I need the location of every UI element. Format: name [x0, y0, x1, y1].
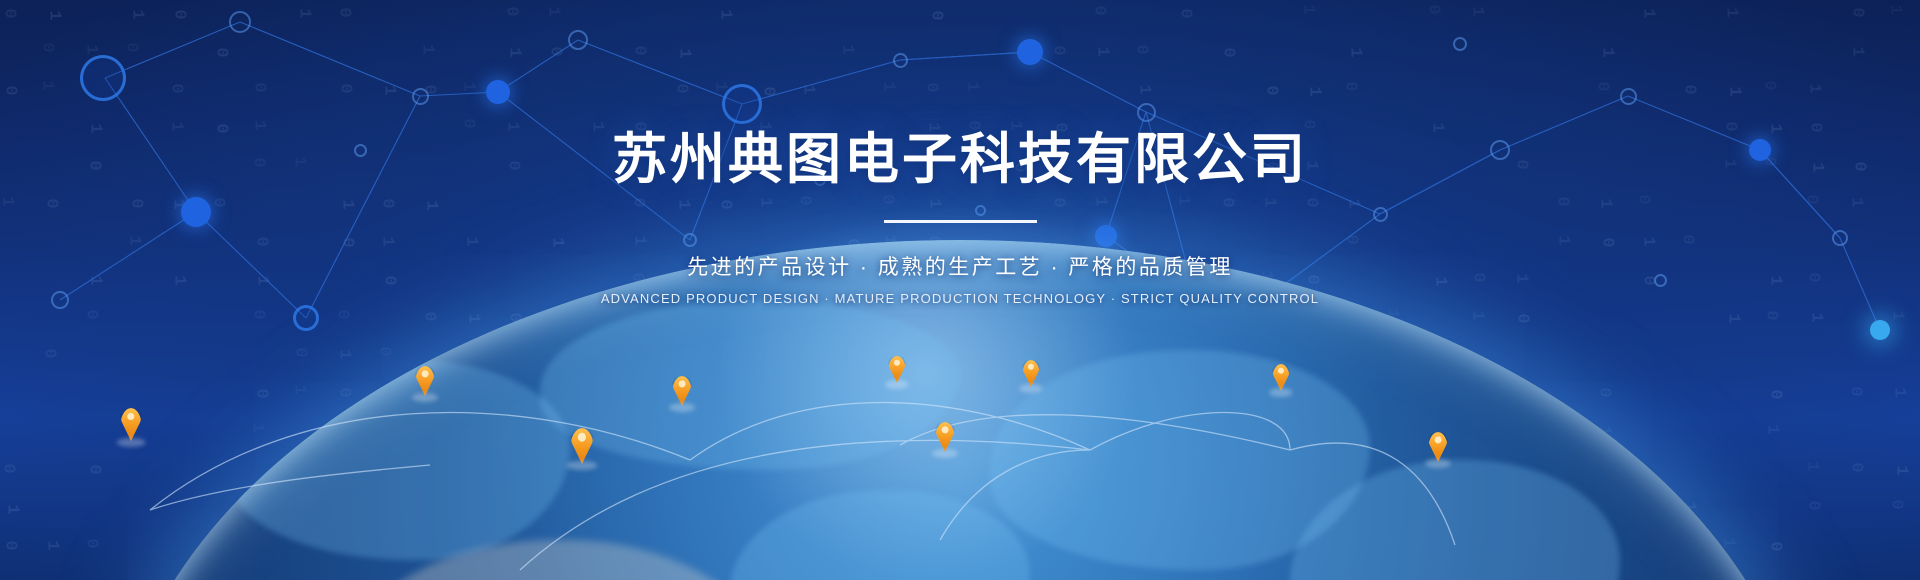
binary-digit: 0	[1342, 387, 1361, 397]
binary-digit: 0	[40, 348, 59, 358]
map-pin-icon	[120, 408, 142, 441]
binary-digit: 1	[1510, 500, 1529, 510]
binary-digit: 1	[293, 539, 312, 549]
page-title: 苏州典图电子科技有限公司	[0, 129, 1920, 190]
binary-digit: 0	[1425, 462, 1444, 472]
binary-digit: 0	[1766, 390, 1785, 400]
company-hero-banner: 0010101010011101000100100111000101001001…	[0, 0, 1920, 580]
binary-digit: 1	[1594, 425, 1613, 435]
network-node	[1870, 320, 1890, 340]
binary-digit: 0	[1052, 352, 1071, 362]
binary-digit: 1	[1382, 309, 1401, 319]
binary-digit: 1	[1088, 423, 1107, 433]
binary-digit: 1	[1215, 462, 1234, 472]
binary-digit: 1	[1802, 461, 1821, 471]
binary-digit: 1	[503, 426, 522, 436]
binary-digit: 1	[963, 462, 982, 472]
binary-digit: 0	[800, 428, 819, 438]
binary-digit: 0	[922, 310, 941, 320]
binary-digit: 0	[1088, 385, 1107, 395]
binary-digit: 1	[710, 461, 729, 471]
binary-digit: 0	[1427, 540, 1446, 550]
binary-digit: 0	[1594, 462, 1613, 472]
binary-digit: 0	[334, 387, 353, 397]
binary-digit: 1	[1679, 502, 1698, 512]
map-pin-icon	[570, 428, 594, 464]
binary-digit: 0	[1261, 389, 1280, 399]
binary-digit: 0	[881, 425, 900, 435]
network-node	[1152, 322, 1168, 338]
binary-digit: 1	[418, 425, 437, 435]
binary-digit: 1	[797, 387, 816, 397]
binary-digit: 1	[1429, 352, 1448, 362]
binary-digit: 0	[504, 313, 523, 323]
binary-digit: 1	[251, 502, 270, 512]
binary-digit: 0	[81, 310, 100, 320]
subtitle-chinese: 先进的产品设计 · 成熟的生产工艺 · 严格的品质管理	[0, 251, 1920, 281]
map-pin-icon	[1428, 432, 1448, 462]
binary-digit: 0	[1046, 423, 1065, 433]
binary-digit: 1	[210, 540, 229, 550]
binary-digit: 0	[1049, 501, 1068, 511]
binary-digit: 0	[1133, 502, 1152, 512]
map-pin-icon	[935, 422, 955, 452]
binary-digit: 1	[758, 428, 777, 438]
binary-digit: 1	[671, 349, 690, 359]
binary-digit: 0	[419, 312, 438, 322]
binary-digit: 1	[921, 424, 940, 434]
hero-text-block: 苏州典图电子科技有限公司 先进的产品设计 · 成熟的生产工艺 · 严格的品质管理…	[0, 0, 1920, 306]
binary-digit: 0	[920, 461, 939, 471]
binary-digit: 0	[332, 309, 351, 319]
binary-digit: 0	[840, 541, 859, 551]
binary-digit: 0	[629, 349, 648, 359]
binary-digit: 0	[249, 309, 268, 319]
binary-digit: 1	[1723, 313, 1742, 323]
binary-digit: 1	[380, 542, 399, 552]
binary-digit: 1	[43, 541, 62, 551]
binary-digit: 0	[380, 428, 399, 438]
binary-digit: 0	[374, 347, 393, 357]
binary-digit: 1	[673, 503, 692, 513]
binary-digit: 1	[291, 462, 310, 472]
binary-digit: 0	[459, 348, 478, 358]
binary-digit: 1	[1597, 503, 1616, 513]
binary-digit: 1	[1471, 541, 1490, 551]
binary-digit: 0	[1508, 537, 1527, 547]
binary-digit: 1	[968, 314, 987, 324]
binary-digit: 1	[589, 503, 608, 513]
map-pin-icon	[415, 366, 435, 396]
binary-digit: 0	[1762, 310, 1781, 320]
network-node	[293, 305, 319, 331]
binary-digit: 0	[84, 465, 103, 475]
binary-digit: 0	[1134, 350, 1153, 360]
binary-digit: 1	[290, 385, 309, 395]
binary-digit: 0	[1007, 387, 1026, 397]
binary-digit: 0	[250, 538, 269, 548]
binary-digit: 0	[1215, 424, 1234, 434]
binary-digit: 1	[335, 349, 354, 359]
binary-digit: 0	[459, 424, 478, 434]
binary-digit: 1	[543, 310, 562, 320]
binary-digit: 0	[82, 538, 101, 548]
binary-digit: 1	[963, 385, 982, 395]
binary-digit: 0	[0, 541, 19, 551]
binary-digit: 1	[1006, 348, 1025, 358]
binary-digit: 0	[1514, 390, 1533, 400]
binary-digit: 0	[1551, 423, 1570, 433]
binary-digit: 1	[1762, 425, 1781, 435]
binary-digit: 1	[1892, 466, 1911, 476]
map-pin-icon	[1272, 364, 1290, 391]
binary-digit: 1	[1719, 538, 1738, 548]
binary-digit: 0	[1006, 538, 1025, 548]
binary-digit: 1	[248, 422, 267, 432]
binary-digit: 1	[881, 539, 900, 549]
binary-digit: 1	[1135, 313, 1154, 323]
binary-digit: 0	[1217, 350, 1236, 360]
binary-digit: 1	[1173, 347, 1192, 357]
binary-digit: 0	[1511, 464, 1530, 474]
binary-digit: 0	[1218, 502, 1237, 512]
binary-digit: 0	[1094, 314, 1113, 324]
map-pin-icon	[888, 356, 906, 383]
binary-digit: 0	[1340, 461, 1359, 471]
binary-digit: 1	[841, 427, 860, 437]
binary-digit: 1	[463, 313, 482, 323]
binary-digit: 1	[1468, 310, 1487, 320]
binary-digit: 1	[711, 385, 730, 395]
binary-digit: 1	[458, 384, 477, 394]
connection-arcs	[0, 280, 1920, 580]
binary-digit: 0	[800, 504, 819, 514]
binary-digit: 1	[881, 463, 900, 473]
binary-digit: 1	[1048, 387, 1067, 397]
binary-digit: 0	[0, 463, 18, 473]
subtitle-english: ADVANCED PRODUCT DESIGN · MATURE PRODUCT…	[0, 291, 1920, 306]
binary-digit: 0	[417, 386, 436, 396]
binary-digit: 1	[799, 313, 818, 323]
binary-digit: 1	[1513, 427, 1532, 437]
binary-digit: 0	[674, 466, 693, 476]
binary-digit: 0	[587, 464, 606, 474]
binary-digit: 1	[542, 537, 561, 547]
binary-digit: 0	[1846, 463, 1865, 473]
binary-digit: 0	[1513, 313, 1532, 323]
title-divider	[884, 220, 1037, 223]
binary-digit: 0	[1766, 542, 1785, 552]
binary-digit: 1	[1888, 310, 1907, 320]
binary-digit: 1	[1007, 501, 1026, 511]
binary-digit: 0	[712, 425, 731, 435]
binary-digit: 0	[291, 347, 310, 357]
binary-digit: 0	[964, 425, 983, 435]
binary-digit: 1	[544, 386, 563, 396]
binary-digit: 1	[2, 504, 21, 514]
binary-digit: 1	[1807, 313, 1826, 323]
map-pin-icon	[1022, 360, 1040, 387]
binary-digit: 0	[252, 388, 271, 398]
binary-digit: 0	[1384, 349, 1403, 359]
binary-digit: 1	[757, 351, 776, 361]
binary-digit: 0	[1887, 500, 1906, 510]
binary-digit: 1	[1889, 388, 1908, 398]
binary-digit: 1	[1298, 385, 1317, 395]
binary-digit: 0	[1595, 387, 1614, 397]
binary-digit: 0	[1804, 500, 1823, 510]
binary-digit: 1	[795, 462, 814, 472]
binary-digit: 0	[882, 350, 901, 360]
map-pin-icon	[672, 376, 692, 406]
binary-digit: 0	[1846, 386, 1865, 396]
